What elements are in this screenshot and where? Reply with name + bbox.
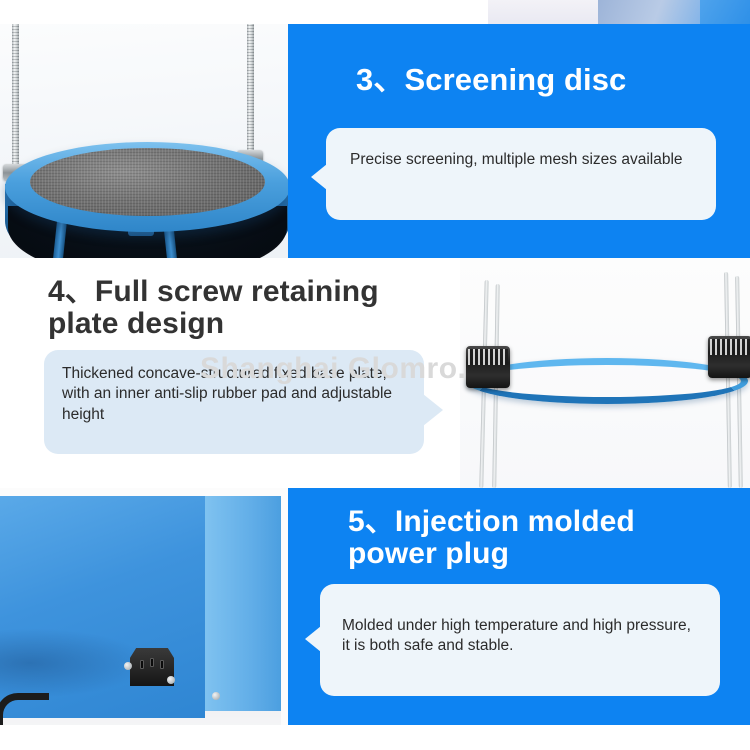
section-4-row: 4、Full screw retaining plate design Thic… [0, 258, 750, 488]
previous-image-sliver [0, 0, 750, 24]
sliver-panel-light [488, 0, 598, 24]
section-4-text-panel: 4、Full screw retaining plate design Thic… [0, 258, 460, 488]
power-socket-photo [0, 488, 288, 725]
section-5-description: Molded under high temperature and high p… [320, 584, 720, 657]
enclosure-side-face [205, 496, 281, 711]
section-3-bubble: Precise screening, multiple mesh sizes a… [326, 128, 716, 220]
section-4-number: 4、 [48, 275, 95, 308]
section-4-bubble-tail [423, 394, 443, 426]
socket-pin-left [140, 660, 144, 669]
section-3-bubble-tail [311, 164, 327, 190]
section-5-heading: 5、Injection molded power plug [348, 506, 728, 570]
panel-screw [212, 692, 220, 700]
section-5-bubble-tail [305, 626, 321, 652]
section-3-heading: 3、Screening disc [356, 64, 626, 96]
socket-screw-top [124, 662, 132, 670]
section-3-title: Screening disc [404, 62, 626, 97]
mesh-screen [30, 148, 265, 216]
section-4-title: Full screw retaining plate design [48, 275, 379, 340]
section-5-number: 5、 [348, 505, 395, 538]
adjustment-knob-right [708, 336, 750, 378]
section-3-text-panel: 3、Screening disc Precise screening, mult… [288, 24, 750, 258]
socket-pin-right [160, 660, 164, 669]
section-5-row: 5、Injection molded power plug Molded und… [0, 488, 750, 725]
section-3-description: Precise screening, multiple mesh sizes a… [326, 128, 716, 170]
section-5-text-panel: 5、Injection molded power plug Molded und… [288, 488, 750, 725]
section-5-bubble: Molded under high temperature and high p… [320, 584, 720, 696]
power-cord [0, 693, 49, 725]
section-4-bubble: Thickened concave-structured fixed base … [44, 350, 424, 454]
screening-disc-photo [0, 24, 288, 258]
section-3-row: 3、Screening disc Precise screening, mult… [0, 24, 750, 258]
adjustment-knob-left [466, 346, 510, 388]
threaded-rod-left [12, 24, 19, 168]
retaining-ring-photo [460, 258, 750, 488]
section-4-description: Thickened concave-structured fixed base … [44, 350, 424, 425]
sliver-panel-blue-right [700, 0, 750, 24]
threaded-rod-right [247, 24, 254, 158]
section-4-heading: 4、Full screw retaining plate design [48, 276, 448, 341]
socket-pin-center [150, 658, 154, 667]
section-3-number: 3、 [356, 62, 404, 97]
product-feature-infographic: 3、Screening disc Precise screening, mult… [0, 0, 750, 750]
socket-screw-bottom [167, 676, 175, 684]
